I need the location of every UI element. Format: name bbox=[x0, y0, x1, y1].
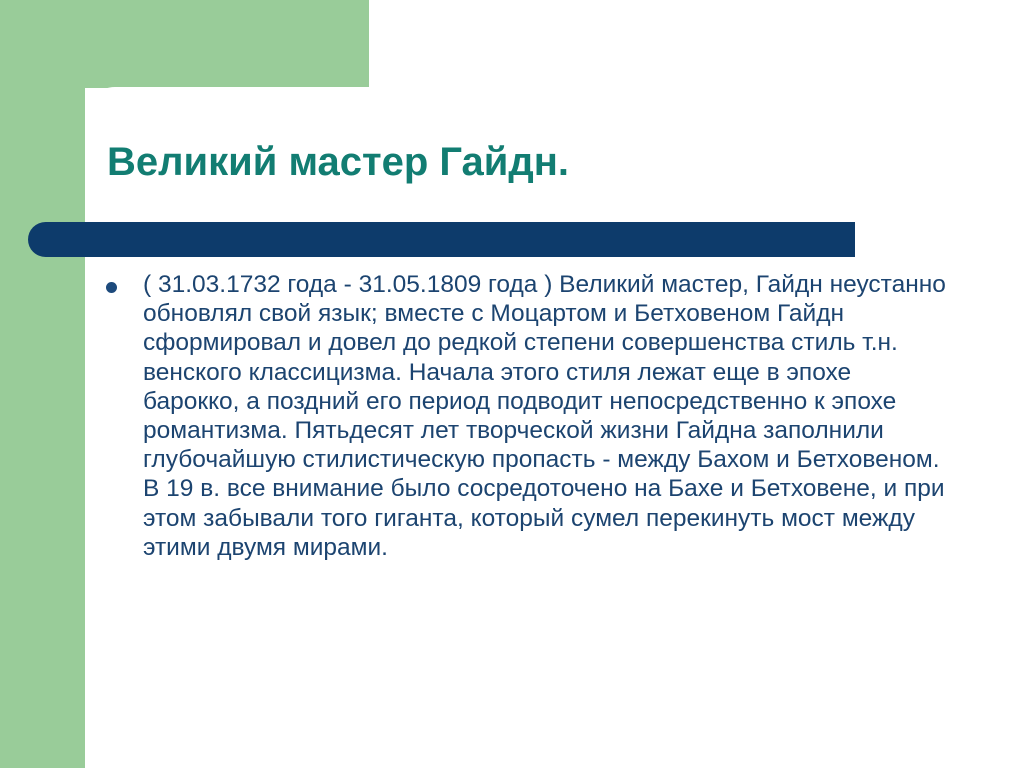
bullet-dot-icon bbox=[106, 282, 117, 293]
green-top-block-decoration bbox=[0, 0, 369, 88]
green-left-strip-decoration bbox=[0, 0, 85, 768]
slide-canvas: Великий мастер Гайдн. ( 31.03.1732 года … bbox=[0, 0, 1024, 768]
title-underline-bar bbox=[28, 222, 855, 257]
slide-title: Великий мастер Гайдн. bbox=[107, 139, 927, 185]
bullet-text: ( 31.03.1732 года - 31.05.1809 года ) Ве… bbox=[143, 271, 946, 561]
list-item: ( 31.03.1732 года - 31.05.1809 года ) Ве… bbox=[103, 270, 953, 562]
slide-body: ( 31.03.1732 года - 31.05.1809 года ) Ве… bbox=[103, 270, 953, 562]
